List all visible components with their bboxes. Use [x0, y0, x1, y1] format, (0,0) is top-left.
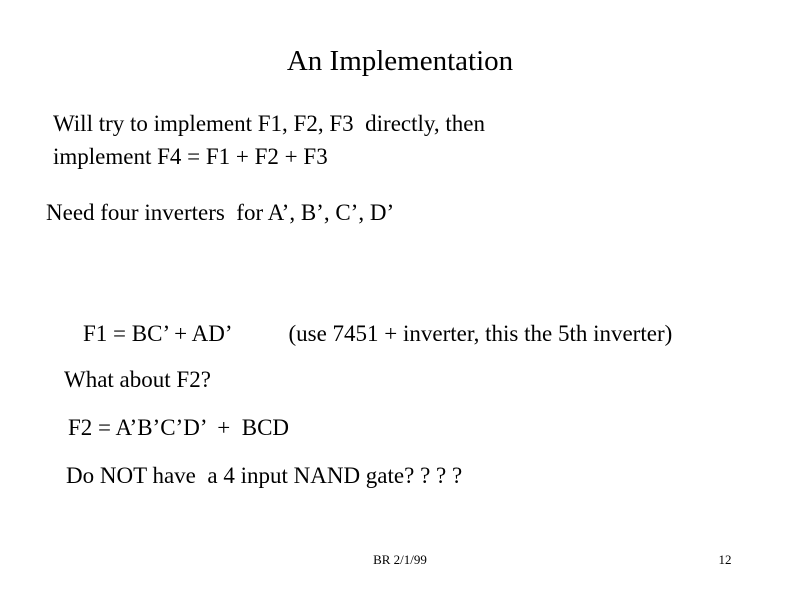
- f1-note: (use 7451 + inverter, this the 5th inver…: [288, 321, 672, 346]
- page-title: An Implementation: [0, 44, 800, 78]
- body-line-implement-plan: Will try to implement F1, F2, F3 directl…: [53, 107, 485, 173]
- body-line-nand-gate-question: Do NOT have a 4 input NAND gate? ? ? ?: [66, 459, 462, 492]
- body-line-f2-equation: F2 = A’B’C’D’ + BCD: [68, 411, 289, 444]
- footer-page-number: 12: [700, 552, 750, 568]
- slide-canvas: An Implementation Will try to implement …: [0, 0, 800, 600]
- body-line-inverters: Need four inverters for A’, B’, C’, D’: [46, 196, 394, 229]
- f1-expression: F1 = BC’ + AD’: [83, 321, 232, 346]
- body-line-what-about-f2: What about F2?: [64, 363, 211, 396]
- footer-author-date: BR 2/1/99: [0, 552, 800, 568]
